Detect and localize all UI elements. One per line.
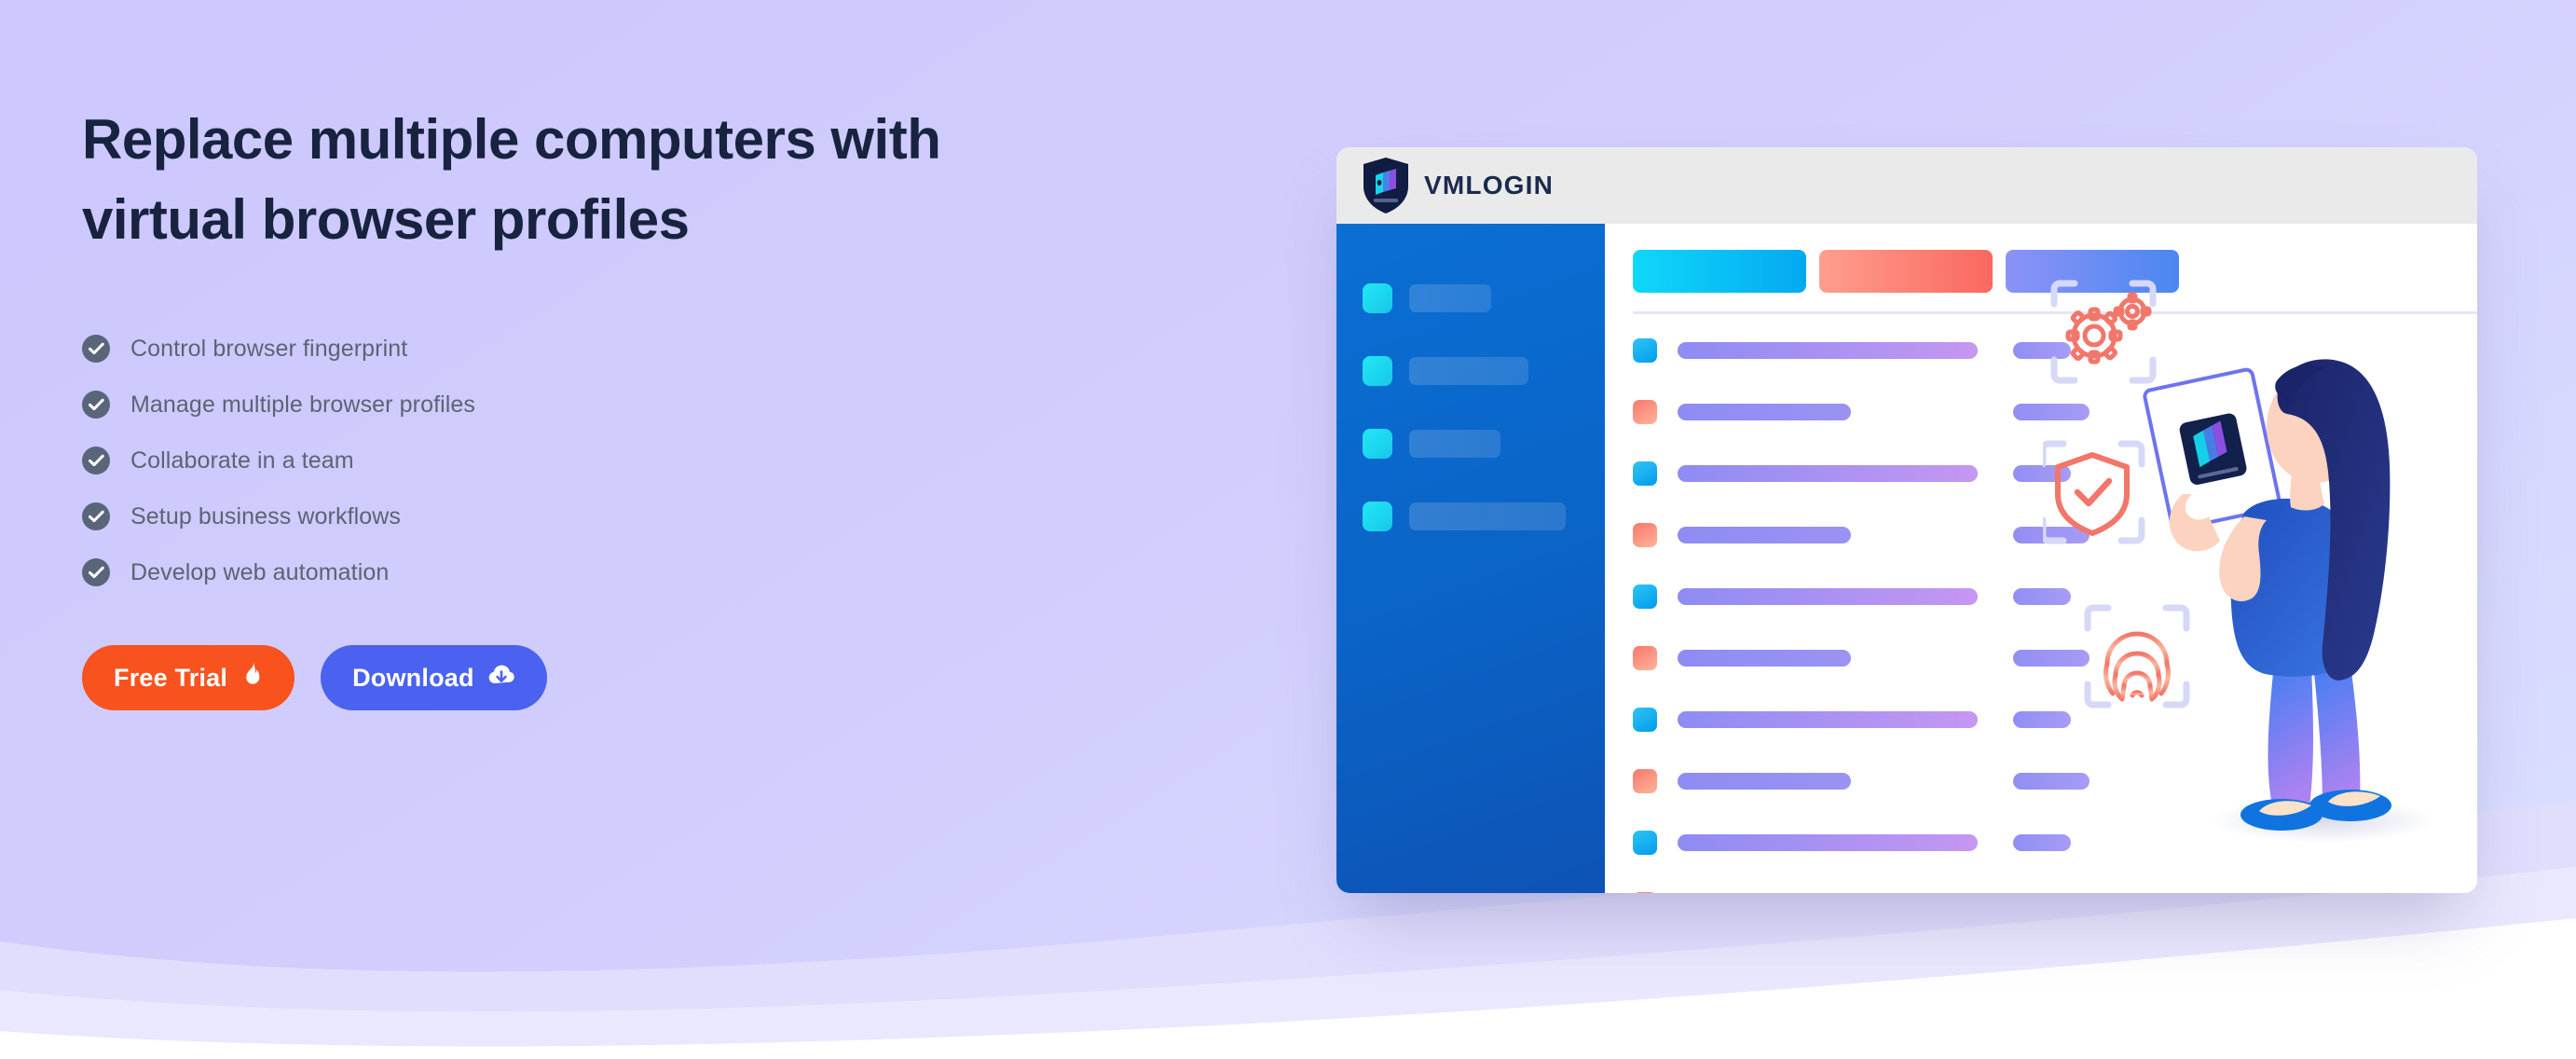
app-titlebar: VMLOGIN <box>1336 147 2477 224</box>
headline-line-2: virtual browser profiles <box>82 192 1247 248</box>
feature-label: Control browser fingerprint <box>130 336 407 363</box>
status-icon-coral <box>1633 400 1657 424</box>
tab-pill-cyan[interactable] <box>1633 250 1806 293</box>
row-primary-placeholder <box>1678 650 1851 667</box>
row-secondary-placeholder <box>2013 773 2090 790</box>
download-label: Download <box>352 664 474 693</box>
download-button[interactable]: Download <box>321 645 547 710</box>
row-secondary-placeholder <box>2013 588 2071 605</box>
feature-label: Manage multiple browser profiles <box>130 392 475 419</box>
sidebar-item[interactable] <box>1336 498 1605 535</box>
cta-button-group: Free Trial Download <box>82 645 1294 710</box>
check-circle-icon <box>82 447 110 474</box>
app-sidebar <box>1336 224 1605 893</box>
sidebar-item-label-placeholder <box>1409 502 1566 530</box>
row-secondary-placeholder <box>2013 342 2071 359</box>
list-item: Develop web automation <box>82 544 1294 600</box>
table-row[interactable] <box>1633 396 2477 427</box>
sidebar-item-icon <box>1363 502 1392 531</box>
tab-pill-coral[interactable] <box>1819 250 1993 293</box>
status-icon-coral <box>1633 523 1657 547</box>
app-body <box>1336 224 2477 893</box>
sidebar-item[interactable] <box>1336 280 1605 317</box>
tab-bar <box>1633 250 2477 293</box>
free-trial-button[interactable]: Free Trial <box>82 645 295 710</box>
list-item: Collaborate in a team <box>82 433 1294 488</box>
table-row[interactable] <box>1633 335 2477 365</box>
app-brand-name: VMLOGIN <box>1424 171 1554 200</box>
row-primary-placeholder <box>1678 342 1978 359</box>
feature-label: Setup business workflows <box>130 503 401 530</box>
row-primary-placeholder <box>1678 773 1851 790</box>
list-item: Setup business workflows <box>82 488 1294 544</box>
row-primary-placeholder <box>1678 527 1851 543</box>
table-row[interactable] <box>1633 827 2477 858</box>
feature-label: Develop web automation <box>130 559 389 586</box>
status-icon-coral <box>1633 769 1657 793</box>
sidebar-item-icon <box>1363 283 1392 313</box>
table-row[interactable] <box>1633 888 2477 893</box>
row-secondary-placeholder <box>2013 834 2071 851</box>
check-circle-icon <box>82 558 110 586</box>
row-primary-placeholder <box>1678 711 1978 728</box>
list-item: Control browser fingerprint <box>82 321 1294 377</box>
sidebar-item-icon <box>1363 356 1392 386</box>
app-window-mockup: VMLOGIN <box>1336 147 2477 893</box>
app-content-area <box>1605 224 2477 893</box>
hero-text-column: Replace multiple computers with virtual … <box>82 112 1294 710</box>
table-row[interactable] <box>1633 765 2477 796</box>
page-title: Replace multiple computers with virtual … <box>82 112 1247 248</box>
status-icon-blue <box>1633 338 1657 363</box>
row-primary-placeholder <box>1678 588 1978 605</box>
check-circle-icon <box>82 391 110 419</box>
table-row[interactable] <box>1633 458 2477 488</box>
check-circle-icon <box>82 335 110 363</box>
table-row[interactable] <box>1633 642 2477 673</box>
profile-row-list <box>1633 335 2477 893</box>
status-icon-blue <box>1633 585 1657 609</box>
row-primary-placeholder <box>1678 404 1851 420</box>
status-icon-coral <box>1633 892 1657 894</box>
flame-icon <box>240 661 263 695</box>
sidebar-item-icon <box>1363 429 1392 459</box>
table-row[interactable] <box>1633 519 2477 550</box>
feature-label: Collaborate in a team <box>130 447 354 474</box>
sidebar-item-label-placeholder <box>1409 430 1500 458</box>
content-divider <box>1633 311 2477 314</box>
table-row[interactable] <box>1633 581 2477 612</box>
row-secondary-placeholder <box>2013 404 2090 420</box>
row-primary-placeholder <box>1678 465 1978 482</box>
sidebar-item[interactable] <box>1336 352 1605 390</box>
check-circle-icon <box>82 502 110 530</box>
feature-list: Control browser fingerprint Manage multi… <box>82 321 1294 600</box>
row-secondary-placeholder <box>2013 527 2090 543</box>
status-icon-blue <box>1633 708 1657 732</box>
sidebar-item[interactable] <box>1336 425 1605 462</box>
row-secondary-placeholder <box>2013 650 2090 667</box>
table-row[interactable] <box>1633 704 2477 735</box>
vmlogin-shield-logo-icon <box>1361 157 1411 214</box>
status-icon-blue <box>1633 461 1657 486</box>
free-trial-label: Free Trial <box>114 664 227 693</box>
cloud-download-icon <box>487 663 515 694</box>
status-icon-coral <box>1633 646 1657 670</box>
list-item: Manage multiple browser profiles <box>82 377 1294 433</box>
sidebar-item-label-placeholder <box>1409 357 1528 385</box>
sidebar-item-label-placeholder <box>1409 284 1491 312</box>
row-secondary-placeholder <box>2013 465 2071 482</box>
row-primary-placeholder <box>1678 834 1978 851</box>
status-icon-blue <box>1633 831 1657 855</box>
headline-line-1: Replace multiple computers with <box>82 108 940 171</box>
row-secondary-placeholder <box>2013 711 2071 728</box>
tab-pill-blue[interactable] <box>2006 250 2179 293</box>
